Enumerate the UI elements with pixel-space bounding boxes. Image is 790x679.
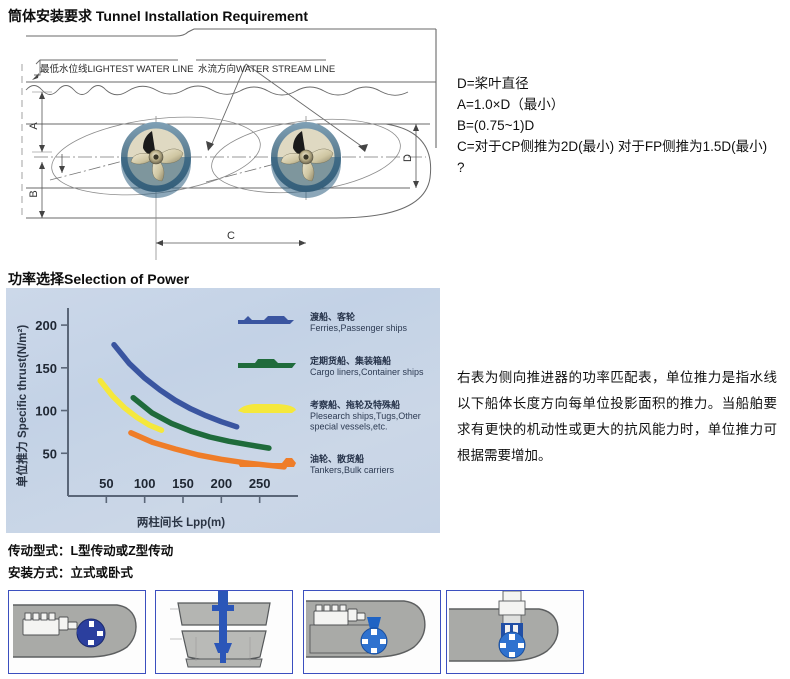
specific-thrust-chart: 50100150200 50100150200250 渡船、客轮Ferries,…: [6, 288, 440, 533]
water-stream-line-label: 水流方向WATER STREAM LINE: [198, 63, 335, 75]
install-image-horizontal-with-propeller[interactable]: [303, 590, 441, 674]
tunnel-section-title: 筒体安装要求 Tunnel Installation Requirement: [8, 6, 308, 26]
installation-image-strip: [8, 590, 588, 674]
install-image-vertical-z-drive[interactable]: [155, 590, 293, 674]
x-tick-150: 150: [172, 476, 194, 491]
lightest-water-line-label: 最低水位线LIGHTEST WATER LINE: [40, 63, 193, 75]
legend-ship-icon: [238, 404, 296, 413]
dim-d-label: D: [402, 154, 414, 162]
legend-label-en-3-0: Tankers,Bulk carriers: [310, 465, 395, 475]
formula-line-c: C=对于CP侧推为2D(最小) 对于FP侧推为1.5D(最小): [457, 136, 782, 157]
curve-series-2: [100, 381, 161, 431]
install-image-horizontal-l-drive[interactable]: [8, 590, 146, 674]
power-section-title: 功率选择Selection of Power: [8, 269, 189, 289]
formula-line-question: ?: [457, 157, 782, 178]
legend-label-en-0-0: Ferries,Passenger ships: [310, 323, 408, 333]
chart-legend: 渡船、客轮Ferries,Passenger ships定期货船、集装箱船Car…: [238, 311, 424, 475]
y-tick-50: 50: [43, 446, 57, 461]
power-note-text: 右表为侧向推进器的功率匹配表，单位推力是指水线以下船体长度方向每单位投影面积的推…: [457, 365, 777, 469]
legend-label-en-2-1: special vessels,etc.: [310, 422, 388, 432]
y-tick-100: 100: [35, 404, 57, 419]
y-axis-label: 单位推力 Specific thrust(N/m²): [15, 325, 29, 487]
propeller-right: [271, 122, 341, 198]
x-tick-250: 250: [249, 476, 271, 491]
legend-label-cn-0: 渡船、客轮: [310, 311, 355, 322]
legend-label-en-1-0: Cargo liners,Container ships: [310, 367, 424, 377]
x-tick-50: 50: [99, 476, 113, 491]
x-tick-100: 100: [134, 476, 156, 491]
page-root: 筒体安装要求 Tunnel Installation Requirement: [0, 0, 790, 679]
legend-label-cn-3: 油轮、散货船: [310, 453, 364, 464]
legend-ship-icon: [238, 316, 294, 324]
dim-b-label: B: [28, 190, 40, 197]
y-tick-150: 150: [35, 361, 57, 376]
legend-label-en-2-0: Plesearch ships,Tugs,Other: [310, 411, 421, 421]
formula-line-b: B=(0.75~1)D: [457, 115, 782, 136]
formula-line-a: A=1.0×D（最小）: [457, 94, 782, 115]
y-tick-200: 200: [35, 318, 57, 333]
mount-type-line: 安装方式：立式或卧式: [8, 562, 133, 581]
x-axis-label: 两柱间长 Lpp(m): [137, 515, 225, 529]
tunnel-installation-diagram: A B C D 最低水位线LIGHTEST WATER LINE 水流方向WAT…: [6, 28, 446, 260]
dim-a-label: A: [28, 122, 40, 130]
formula-block: D=桨叶直径 A=1.0×D（最小） B=(0.75~1)D C=对于CP侧推为…: [457, 73, 782, 178]
legend-ship-icon: [238, 359, 296, 368]
drive-type-line: 传动型式：L型传动或Z型传动: [8, 540, 173, 559]
dim-c-label: C: [227, 230, 235, 242]
install-image-vertical-unit[interactable]: [446, 590, 584, 674]
x-tick-200: 200: [210, 476, 232, 491]
legend-label-cn-2: 考察船、拖轮及特殊船: [310, 399, 400, 410]
legend-label-cn-1: 定期货船、集装箱船: [309, 355, 391, 366]
formula-line-d: D=桨叶直径: [457, 73, 782, 94]
x-axis-ticks: 50100150200250: [99, 476, 270, 503]
y-axis-ticks: 50100150200: [35, 318, 68, 461]
propeller-left: [121, 122, 191, 198]
